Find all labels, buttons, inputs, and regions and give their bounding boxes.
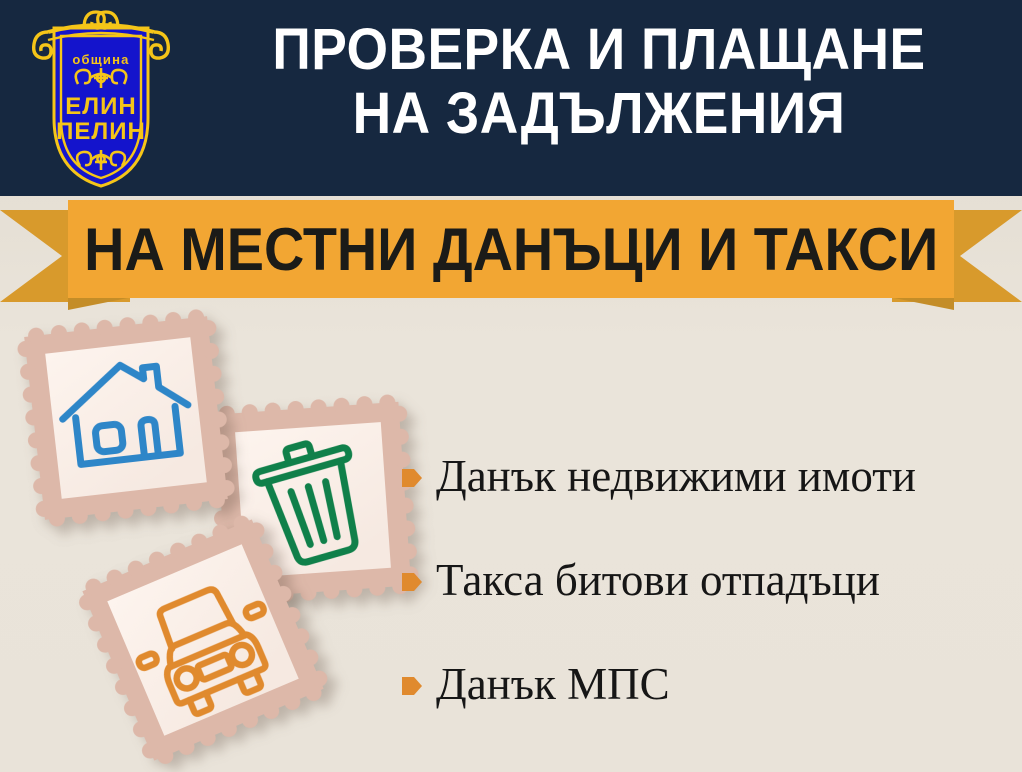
list-item-label: Данък МПС bbox=[436, 660, 670, 708]
crest-label-top: община bbox=[72, 52, 129, 67]
list-item[interactable]: Такса битови отпадъци bbox=[402, 528, 1012, 632]
poster-canvas: ПРОВЕРКА И ПЛАЩАНЕ НА ЗАДЪЛЖЕНИЯ община bbox=[0, 0, 1022, 772]
page-title: ПРОВЕРКА И ПЛАЩАНЕ НА ЗАДЪЛЖЕНИЯ bbox=[223, 18, 976, 146]
arrow-bullet-icon bbox=[402, 674, 422, 698]
arrow-bullet-icon bbox=[402, 570, 422, 594]
list-item[interactable]: Данък МПС bbox=[402, 632, 1012, 736]
crest-label-line2: ПЕЛИН bbox=[56, 118, 146, 145]
tax-type-list: Данък недвижими имоти Такса битови отпад… bbox=[402, 424, 1012, 736]
list-item-label: Данък недвижими имоти bbox=[436, 452, 916, 500]
stamp-house bbox=[15, 307, 236, 528]
list-item[interactable]: Данък недвижими имоти bbox=[402, 424, 1012, 528]
ribbon-main-panel: НА МЕСТНИ ДАНЪЦИ И ТАКСИ bbox=[68, 200, 954, 298]
arrow-bullet-icon bbox=[402, 466, 422, 490]
list-item-label: Такса битови отпадъци bbox=[436, 556, 880, 604]
ribbon-subtitle: НА МЕСТНИ ДАНЪЦИ И ТАКСИ bbox=[84, 215, 938, 284]
crest-label-line1: ЕЛИН bbox=[65, 93, 136, 120]
municipality-crest-logo: община ЕЛИН ПЕЛИН bbox=[26, 6, 176, 194]
ribbon-banner: НА МЕСТНИ ДАНЪЦИ И ТАКСИ bbox=[0, 196, 1022, 316]
